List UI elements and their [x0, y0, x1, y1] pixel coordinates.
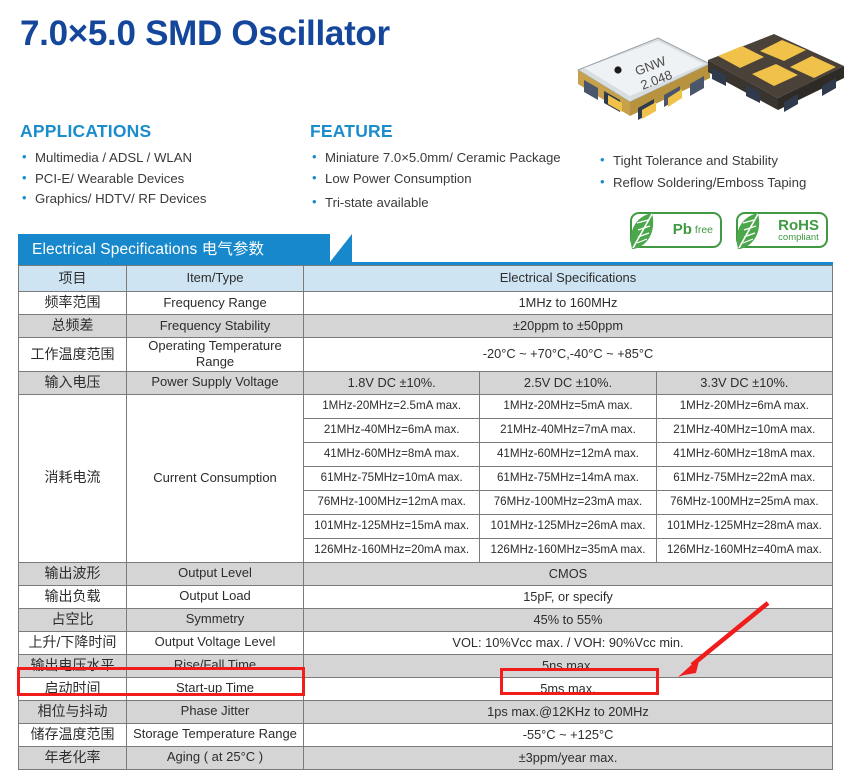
list-item: Multimedia / ADSL / WLAN — [22, 148, 206, 169]
current-cell: 61MHz-75MHz=14mA max. — [480, 466, 656, 490]
row-value: -20°C ~ +70°C,-40°C ~ +85°C — [304, 338, 833, 372]
row-label-en: Storage Temperature Range — [127, 723, 304, 746]
row-label-en: Output Voltage Level — [127, 631, 304, 654]
current-cell: 101MHz-125MHz=26mA max. — [480, 514, 656, 538]
list-item: PCI-E/ Wearable Devices — [22, 169, 206, 190]
row-label-en: Output Level — [127, 562, 304, 585]
table-row: 工作温度范围 Operating Temperature Range -20°C… — [19, 338, 833, 372]
badge-sub-text: compliant — [778, 233, 819, 243]
current-cell: 61MHz-75MHz=22mA max. — [656, 466, 832, 490]
row-label-en: Start-up Time — [127, 677, 304, 700]
current-cell: 41MHz-60MHz=8mA max. — [304, 442, 480, 466]
row-value: CMOS — [304, 562, 833, 585]
row-label-cn: 输出负载 — [19, 585, 127, 608]
leaf-icon — [626, 211, 660, 251]
header-en: Item/Type — [127, 266, 304, 292]
current-cell: 1MHz-20MHz=6mA max. — [656, 394, 832, 418]
table-header-row: 项目 Item/Type Electrical Specifications — [19, 266, 833, 292]
spec-section-banner: Electrical Specifications 电气参数 — [18, 234, 330, 262]
spec-section-label: Electrical Specifications 电气参数 — [32, 237, 264, 259]
row-value: -55°C ~ +125°C — [304, 723, 833, 746]
row-value: ±20ppm to ±50ppm — [304, 315, 833, 338]
list-item: Graphics/ HDTV/ RF Devices — [22, 189, 206, 210]
row-value: 1MHz to 160MHz — [304, 292, 833, 315]
current-cell: 1MHz-20MHz=5mA max. — [480, 394, 656, 418]
current-cell: 21MHz-40MHz=10mA max. — [656, 418, 832, 442]
list-item: Reflow Soldering/Emboss Taping — [600, 172, 806, 194]
row-label-en: Frequency Stability — [127, 315, 304, 338]
leaf-icon — [732, 211, 766, 251]
row-label-en: Symmetry — [127, 608, 304, 631]
current-cell: 126MHz-160MHz=35mA max. — [480, 538, 656, 562]
row-label-cn: 总频差 — [19, 315, 127, 338]
annotation-arrow-icon — [650, 595, 780, 685]
row-label-en: Current Consumption — [127, 394, 304, 562]
row-label-en: Power Supply Voltage — [127, 371, 304, 394]
header-cn: 项目 — [19, 266, 127, 292]
badge-inline-text: free — [695, 224, 713, 236]
table-row: 储存温度范围 Storage Temperature Range -55°C ~… — [19, 723, 833, 746]
feature-list: Miniature 7.0×5.0mm/ Ceramic Package Low… — [312, 148, 561, 214]
rohs-badge: RoHS compliant — [736, 212, 828, 248]
applications-list: Multimedia / ADSL / WLAN PCI-E/ Wearable… — [22, 148, 206, 210]
current-cell: 101MHz-125MHz=28mA max. — [656, 514, 832, 538]
row-label-en: Rise/Fall Time — [127, 654, 304, 677]
list-item: Low Power Consumption — [312, 169, 561, 190]
pb-free-badge: Pb free — [630, 212, 722, 248]
current-cell: 101MHz-125MHz=15mA max. — [304, 514, 480, 538]
list-item: Tri-state available — [312, 193, 561, 214]
row-label-cn: 年老化率 — [19, 746, 127, 769]
feature-extra-list: Tight Tolerance and Stability Reflow Sol… — [600, 150, 806, 194]
table-row: 总频差 Frequency Stability ±20ppm to ±50ppm — [19, 315, 833, 338]
product-photo: GNW 2.048 — [560, 22, 850, 134]
row-value-v25: 2.5V DC ±10%. — [480, 371, 656, 394]
row-label-cn: 输出电压水平 — [19, 654, 127, 677]
header-spec: Electrical Specifications — [304, 266, 833, 292]
row-label-cn: 占空比 — [19, 608, 127, 631]
current-cell: 126MHz-160MHz=40mA max. — [656, 538, 832, 562]
row-label-en: Frequency Range — [127, 292, 304, 315]
row-value: ±3ppm/year max. — [304, 746, 833, 769]
list-item: Tight Tolerance and Stability — [600, 150, 806, 172]
row-value-v18: 1.8V DC ±10%. — [304, 371, 480, 394]
badge-main-text: Pb — [673, 222, 692, 237]
row-label-cn: 输入电压 — [19, 371, 127, 394]
current-cell: 1MHz-20MHz=2.5mA max. — [304, 394, 480, 418]
row-label-cn: 相位与抖动 — [19, 700, 127, 723]
row-label-en: Aging ( at 25°C ) — [127, 746, 304, 769]
current-cell: 76MHz-100MHz=23mA max. — [480, 490, 656, 514]
row-label-cn: 频率范围 — [19, 292, 127, 315]
row-value: 1ps max.@12KHz to 20MHz — [304, 700, 833, 723]
applications-heading: APPLICATIONS — [20, 121, 151, 142]
table-row: 输入电压 Power Supply Voltage 1.8V DC ±10%. … — [19, 371, 833, 394]
page-title: 7.0×5.0 SMD Oscillator — [20, 14, 390, 54]
current-cell: 126MHz-160MHz=20mA max. — [304, 538, 480, 562]
row-label-cn: 启动时间 — [19, 677, 127, 700]
row-label-en: Phase Jitter — [127, 700, 304, 723]
row-label-cn: 工作温度范围 — [19, 338, 127, 372]
table-row: 频率范围 Frequency Range 1MHz to 160MHz — [19, 292, 833, 315]
row-label-cn: 储存温度范围 — [19, 723, 127, 746]
row-label-cn: 消耗电流 — [19, 394, 127, 562]
table-row: 相位与抖动 Phase Jitter 1ps max.@12KHz to 20M… — [19, 700, 833, 723]
row-label-en: Output Load — [127, 585, 304, 608]
feature-heading: FEATURE — [310, 121, 393, 142]
row-value-v33: 3.3V DC ±10%. — [656, 371, 832, 394]
current-cell: 76MHz-100MHz=12mA max. — [304, 490, 480, 514]
current-cell: 21MHz-40MHz=7mA max. — [480, 418, 656, 442]
current-cell: 21MHz-40MHz=6mA max. — [304, 418, 480, 442]
row-label-en: Operating Temperature Range — [127, 338, 304, 372]
table-row: 消耗电流 Current Consumption 1MHz-20MHz=2.5m… — [19, 394, 833, 418]
table-row: 年老化率 Aging ( at 25°C ) ±3ppm/year max. — [19, 746, 833, 769]
current-cell: 61MHz-75MHz=10mA max. — [304, 466, 480, 490]
table-row: 输出波形 Output Level CMOS — [19, 562, 833, 585]
badge-main-text: RoHS — [778, 218, 819, 233]
current-cell: 76MHz-100MHz=25mA max. — [656, 490, 832, 514]
current-cell: 41MHz-60MHz=18mA max. — [656, 442, 832, 466]
current-cell: 41MHz-60MHz=12mA max. — [480, 442, 656, 466]
electrical-specifications-table: 项目 Item/Type Electrical Specifications 频… — [18, 265, 833, 770]
list-item: Miniature 7.0×5.0mm/ Ceramic Package — [312, 148, 561, 169]
eco-badges: Pb free RoHS compliant — [630, 212, 828, 248]
row-label-cn: 上升/下降时间 — [19, 631, 127, 654]
row-label-cn: 输出波形 — [19, 562, 127, 585]
